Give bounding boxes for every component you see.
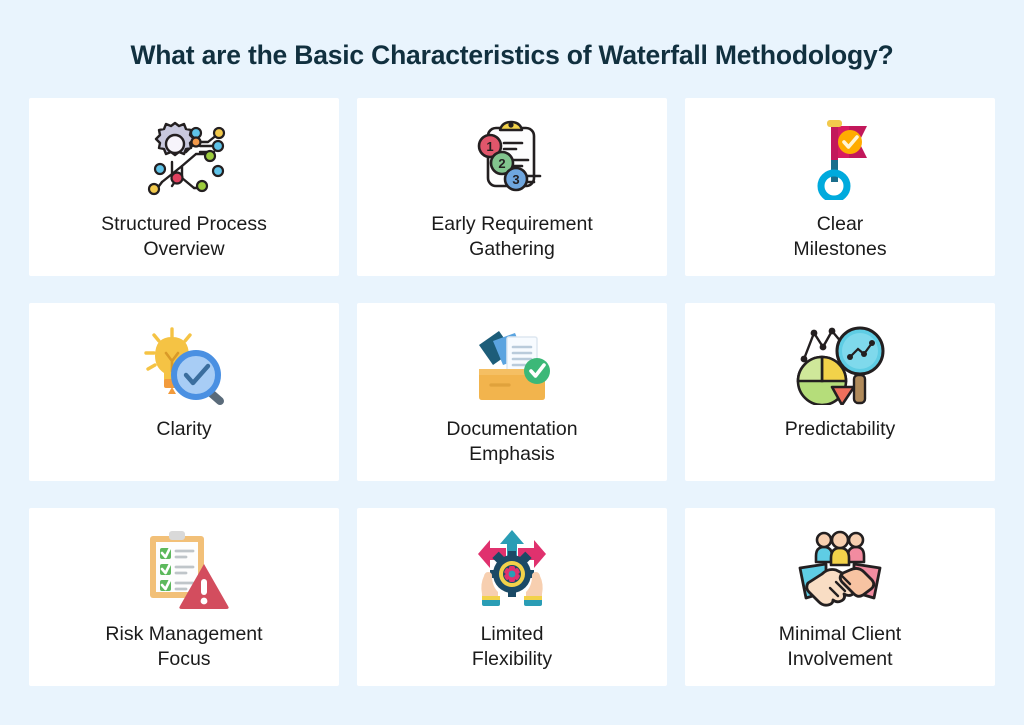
page-title: What are the Basic Characteristics of Wa… (0, 0, 1024, 72)
card-risk-management-focus[interactable]: Risk Management Focus (29, 508, 339, 686)
checklist-warning-icon (132, 522, 236, 614)
card-label: Clarity (148, 417, 219, 442)
card-label: Clear Milestones (785, 212, 894, 263)
lightbulb-magnifier-icon (132, 317, 236, 409)
card-label: Structured Process Overview (93, 212, 275, 263)
infographic-page: What are the Basic Characteristics of Wa… (0, 0, 1024, 725)
folder-documents-check-icon (460, 317, 564, 409)
card-clarity[interactable]: Clarity (29, 303, 339, 481)
characteristics-grid: Structured Process Overview 1 2 (29, 98, 995, 686)
card-label: Risk Management Focus (97, 622, 270, 673)
checked-flag-icon (788, 112, 892, 204)
card-structured-process-overview[interactable]: Structured Process Overview (29, 98, 339, 276)
card-label: Documentation Emphasis (438, 417, 585, 468)
card-early-requirement-gathering[interactable]: 1 2 3 Early Requirement Gathering (357, 98, 667, 276)
card-label: Early Requirement Gathering (423, 212, 600, 263)
gear-arrows-hands-icon (460, 522, 564, 614)
card-label: Minimal Client Involvement (771, 622, 909, 673)
handshake-team-icon (788, 522, 892, 614)
card-label: Predictability (777, 417, 904, 442)
card-predictability[interactable]: Predictability (685, 303, 995, 481)
pie-chart-magnifier-icon (788, 317, 892, 409)
card-label: Limited Flexibility (464, 622, 560, 673)
clipboard-numbered-list-icon: 1 2 3 (460, 112, 564, 204)
gear-network-icon (132, 112, 236, 204)
card-minimal-client-involvement[interactable]: Minimal Client Involvement (685, 508, 995, 686)
svg-text:3: 3 (512, 172, 519, 187)
svg-text:1: 1 (486, 139, 493, 154)
card-gear-arrows-hands[interactable]: Limited Flexibility (357, 508, 667, 686)
card-clear-milestones[interactable]: Clear Milestones (685, 98, 995, 276)
card-documentation-emphasis[interactable]: Documentation Emphasis (357, 303, 667, 481)
svg-text:2: 2 (498, 156, 505, 171)
